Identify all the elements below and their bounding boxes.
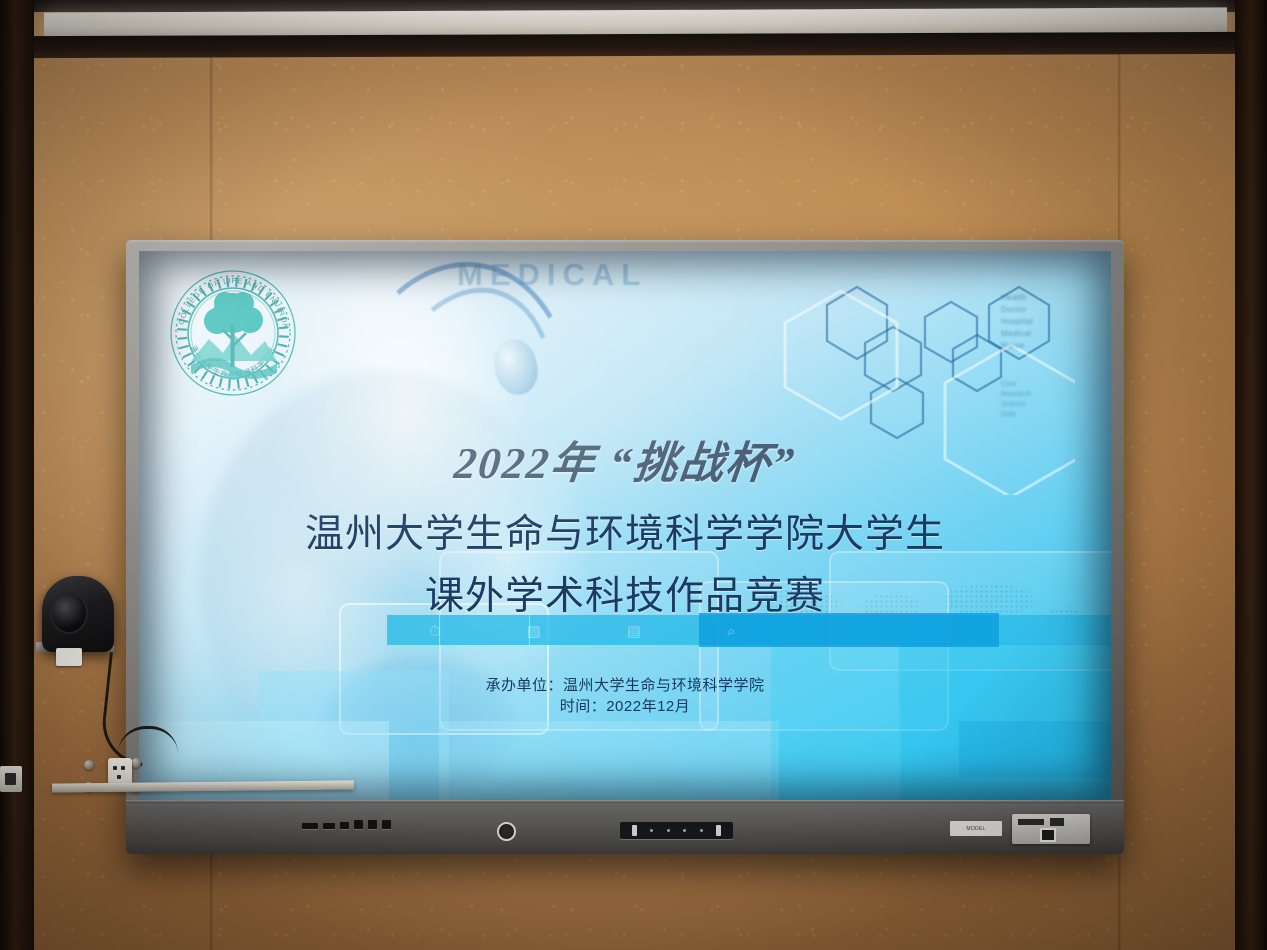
slide-title-line-1: 温州大学生命与环境科学学院大学生 bbox=[139, 503, 1111, 559]
outlet-hole bbox=[113, 766, 117, 770]
wall-screw bbox=[84, 760, 94, 770]
room-scene: MEDICAL bbox=[0, 0, 1267, 950]
usb-port bbox=[382, 820, 391, 829]
camera-head bbox=[42, 576, 114, 652]
camera-label-tag bbox=[56, 648, 82, 666]
valance-shadow-bar bbox=[34, 32, 1235, 58]
wood-trim-left bbox=[0, 0, 34, 950]
faint-label: Health bbox=[1001, 293, 1067, 302]
organizer-line: 承办单位：温州大学生命与环境科学学院 bbox=[139, 675, 1111, 696]
slide-title-block: 2022年 “挑战杯” 温州大学生命与环境科学学院大学生 课外学术科技作品竞赛 bbox=[139, 427, 1111, 621]
model-sticker: MODEL bbox=[950, 821, 1002, 836]
color-band bbox=[959, 721, 1111, 777]
usb-port bbox=[340, 822, 349, 829]
faint-label: Doctor bbox=[1001, 305, 1067, 314]
chin-highlight bbox=[126, 800, 1124, 803]
faint-label-column-secondary: Care Research Science Data bbox=[1001, 381, 1067, 418]
ui-glyph-row: ⏱ ▨ ▤ ⌕ bbox=[399, 619, 1039, 643]
io-socket bbox=[1042, 830, 1054, 840]
hdmi-port bbox=[302, 823, 318, 829]
plate-socket bbox=[5, 773, 16, 785]
power-button[interactable] bbox=[497, 822, 516, 841]
wall-plate-left[interactable] bbox=[0, 766, 22, 792]
color-band bbox=[439, 721, 779, 800]
outlet-hole bbox=[117, 775, 121, 779]
slide-title-line-2: 课外学术科技作品竞赛 bbox=[139, 565, 1111, 621]
display-chin: MODEL bbox=[126, 800, 1124, 854]
speaker-grille bbox=[620, 822, 733, 839]
faint-label: Science bbox=[1001, 401, 1067, 408]
grille-cap bbox=[632, 825, 637, 836]
io-slot bbox=[1018, 819, 1044, 825]
io-slot bbox=[1050, 818, 1064, 826]
faint-label: Care bbox=[1001, 381, 1067, 388]
camera-lens bbox=[52, 594, 86, 632]
college-emblem-logo: COLLEGE OF LIFE AND ENVIRONMENTAL SCIENC… bbox=[165, 265, 301, 401]
emblem-icon: COLLEGE OF LIFE AND ENVIRONMENTAL SCIENC… bbox=[165, 265, 301, 401]
timer-icon: ⏱ bbox=[429, 623, 441, 640]
medical-watermark-text: MEDICAL bbox=[457, 257, 647, 293]
wall-mounted-display[interactable]: MEDICAL bbox=[126, 240, 1124, 854]
faint-label: Hospital bbox=[1001, 317, 1067, 326]
faint-label: Nurse bbox=[1001, 341, 1067, 350]
grille-dot bbox=[700, 829, 703, 832]
color-band bbox=[771, 645, 901, 800]
grille-dot bbox=[683, 829, 686, 832]
brush-title: 2022年 “挑战杯” bbox=[451, 427, 799, 491]
display-port-row bbox=[302, 820, 391, 829]
usb-port bbox=[354, 820, 363, 829]
ptz-conference-camera bbox=[30, 570, 130, 680]
wall-screw bbox=[131, 758, 141, 768]
grille-dot bbox=[650, 829, 653, 832]
grille-dot bbox=[667, 829, 670, 832]
chart-icon: ▨ bbox=[527, 622, 541, 640]
faint-label: Research bbox=[1001, 391, 1067, 398]
date-line: 时间：2022年12月 bbox=[139, 696, 1111, 717]
outlet-hole bbox=[121, 766, 125, 770]
wood-trim-right bbox=[1235, 0, 1267, 950]
search-icon: ⌕ bbox=[727, 623, 735, 640]
grille-cap bbox=[716, 825, 721, 836]
usb-port bbox=[368, 820, 377, 829]
faint-label: Medical bbox=[1001, 329, 1067, 338]
faint-label: Data bbox=[1001, 411, 1067, 418]
faint-label-column: Health Doctor Hospital Medical Nurse bbox=[1001, 293, 1067, 350]
grid-icon: ▤ bbox=[627, 622, 641, 640]
slide-footer-block: 承办单位：温州大学生命与环境科学学院 时间：2022年12月 bbox=[139, 675, 1111, 717]
hdmi-port bbox=[323, 823, 335, 829]
io-plate bbox=[1012, 814, 1090, 844]
slide-canvas: MEDICAL bbox=[139, 251, 1111, 800]
display-screen-frame: MEDICAL bbox=[139, 251, 1111, 800]
